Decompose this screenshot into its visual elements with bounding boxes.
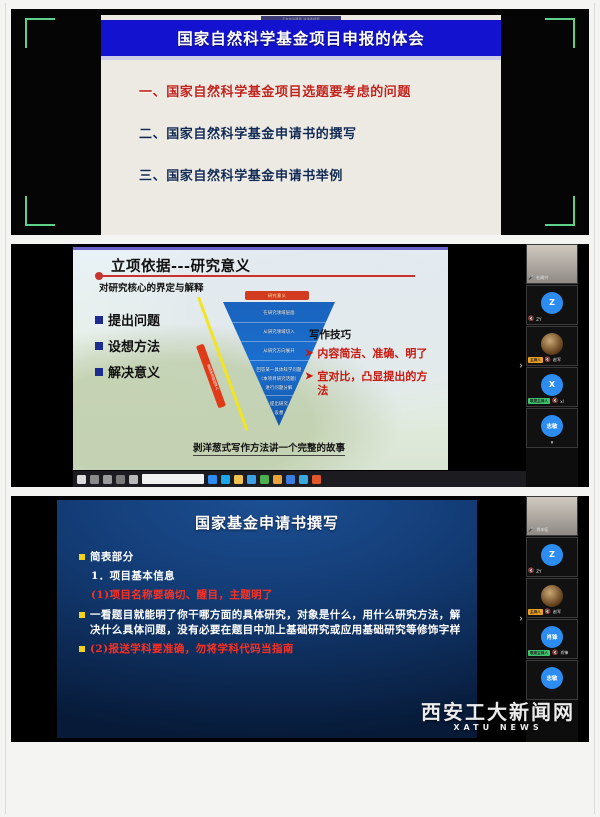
slide-bullet-1: 一、国家自然科学基金项目选题要考虑的问题 [139, 81, 485, 100]
slide-item-3: (1)项目名称要确切、醒目，主题明了 [91, 588, 465, 603]
slide-item-5: (2)报送学科要准确，勿将学科代码当指南 [79, 642, 465, 657]
focus-bracket-top-left-icon [25, 18, 55, 48]
left-point-2: 设想方法 [95, 336, 160, 355]
apps-icon[interactable] [129, 475, 138, 484]
app-icon-4[interactable] [247, 475, 256, 484]
mic-muted-icon: 🔇 [528, 316, 534, 322]
left-point-2-label: 设想方法 [108, 336, 160, 355]
writing-tips-list: ➤ 内容简洁、准确、明了 ➤ 宜对比，凸显提出的方法 [305, 347, 435, 397]
participant-name: 赵军 [553, 609, 561, 615]
participant-tile[interactable]: 志敏 [526, 660, 578, 700]
avatar [541, 585, 563, 607]
slide-item-3-label: (1)项目名称要确切、醒目，主题明了 [91, 588, 273, 603]
slide-item-2-label: 1．项目基本信息 [91, 569, 175, 584]
participant-name: 肖丰征 [536, 527, 548, 533]
mic-muted-icon: 🔇 [552, 398, 558, 404]
writing-tip-2-label: 宜对比，凸显提出的方法 [317, 370, 435, 398]
mic-icon: 🎤 [528, 275, 534, 281]
avatar: Z [541, 292, 563, 314]
slide-heading: 国家基金申请书撰写 [57, 512, 477, 533]
participant-name: 肖锋 [560, 650, 568, 656]
photo-panel-title-slide: 正在共享屏幕 演讲者视图 国家自然科学基金项目申报的体会 一、国家自然科学基金项… [11, 9, 589, 235]
presentation-slide-title: 正在共享屏幕 演讲者视图 国家自然科学基金项目申报的体会 一、国家自然科学基金项… [101, 15, 501, 235]
arrow-bullet-icon: ➤ [305, 347, 313, 361]
square-bullet-icon [95, 368, 103, 376]
participant-tile[interactable]: 🎤 杜周兴 [526, 244, 578, 284]
avatar: X [541, 374, 563, 396]
slide-left-point-list: 提出问题 设想方法 解决意义 [95, 310, 160, 381]
square-bullet-icon [79, 554, 85, 560]
mic-icon: 🎤 [528, 527, 534, 533]
participant-tile[interactable]: X 联席主持人 🔇 xl [526, 367, 578, 407]
writing-tip-1-label: 内容简洁、准确、明了 [317, 347, 427, 361]
participant-name-row: 联席主持人 🔇 xl [528, 397, 576, 405]
app-icon-1[interactable] [208, 475, 217, 484]
participant-tile[interactable]: Z 🔇 ZY [526, 537, 578, 577]
slide-subheading: 对研究核心的界定与解释 [99, 280, 204, 294]
participant-tile[interactable]: 主持人 🔇 赵军 [526, 326, 578, 366]
left-point-3: 解决意义 [95, 362, 160, 381]
cohost-badge: 联席主持人 [528, 650, 550, 656]
participant-name-row: 🔇 ZY [528, 315, 576, 323]
writing-tip-2: ➤ 宜对比，凸显提出的方法 [305, 370, 435, 398]
avatar [541, 333, 563, 355]
square-bullet-icon [79, 646, 85, 652]
focus-bracket-bottom-left-icon [25, 196, 55, 226]
roster-expander-icon[interactable]: › [519, 614, 523, 625]
avatar: 志敏 [541, 667, 563, 689]
participant-name: ZY [536, 317, 541, 322]
participant-tile[interactable]: 主持人 🔇 赵军 [526, 578, 578, 618]
heading-underline [99, 275, 415, 277]
participant-name: ZY [536, 569, 541, 574]
photo-panel-screen-share: 立项依据---研究意义 对研究核心的界定与解释 提出问题 设想方法 解决意义 [11, 244, 589, 487]
pyramid-cap-label: 研究意义 [245, 291, 309, 300]
participant-name-row: 联席主持人 🔇 肖锋 [528, 649, 576, 657]
app-icon-9[interactable] [312, 475, 321, 484]
slide-item-4: 一看题目就能明了你干哪方面的具体研究，对象是什么，用什么研究方法，解决什么具体问… [79, 608, 465, 638]
slide-title-bar: 国家自然科学基金项目申报的体会 [101, 20, 501, 56]
taskview-icon[interactable] [116, 475, 125, 484]
roster-expander-icon[interactable]: › [519, 360, 523, 371]
slide-item-1-label: 简表部分 [90, 550, 134, 565]
avatar: Z [541, 544, 563, 566]
square-bullet-icon [95, 316, 103, 324]
focus-bracket-bottom-right-icon [545, 196, 575, 226]
participant-name-row: 🔇 ZY [528, 567, 576, 575]
left-point-1-label: 提出问题 [108, 310, 160, 329]
app-icon-3[interactable] [234, 475, 243, 484]
participant-tile[interactable]: 🎤 肖丰征 [526, 496, 578, 536]
app-icon-7[interactable] [286, 475, 295, 484]
participant-tile[interactable]: Z 🔇 ZY [526, 285, 578, 325]
square-bullet-icon [79, 612, 85, 618]
mic-muted-icon: 🔇 [552, 650, 558, 656]
slide-content-list: 简表部分 1．项目基本信息 (1)项目名称要确切、醒目，主题明了 一看题目就能明… [79, 550, 465, 661]
app-icon-6[interactable] [273, 475, 282, 484]
cortana-icon[interactable] [90, 475, 99, 484]
slide-item-5-label: (2)报送学科要准确，勿将学科代码当指南 [90, 642, 294, 657]
focus-bracket-top-right-icon [545, 18, 575, 48]
slide-item-1: 简表部分 [79, 550, 465, 565]
app-icon-2[interactable] [221, 475, 230, 484]
slide-item-4-label: 一看题目就能明了你干哪方面的具体研究，对象是什么，用什么研究方法，解决什么具体问… [90, 608, 465, 638]
chevron-down-icon[interactable]: ▾ [551, 440, 554, 446]
app-icon-5[interactable] [260, 475, 269, 484]
participant-name-row: 主持人 🔇 赵军 [528, 356, 576, 364]
mic-muted-icon: 🔇 [545, 609, 551, 615]
participant-tile[interactable]: 肖锋 联席主持人 🔇 肖锋 [526, 619, 578, 659]
slide-heading: 立项依据---研究意义 [111, 255, 251, 276]
photo-panel-application-slide: 国家基金申请书撰写 简表部分 1．项目基本信息 (1)项目名称要确切、醒目，主题… [11, 496, 589, 742]
writing-tips-heading: 写作技巧 [309, 327, 351, 342]
pyramid-sep [230, 322, 329, 323]
writing-tip-1: ➤ 内容简洁、准确、明了 [305, 347, 435, 361]
participant-name-row: 🎤 杜周兴 [528, 274, 576, 282]
participant-name-row: 🎤 肖丰征 [528, 526, 576, 534]
windows-taskbar[interactable] [73, 471, 526, 487]
app-icon-8[interactable] [299, 475, 308, 484]
cohost-badge: 联席主持人 [528, 398, 550, 404]
avatar: 志敏 [541, 415, 563, 437]
participant-roster-panel-2: 🎤 杜周兴 Z 🔇 ZY 主持人 🔇 赵军 X [526, 244, 578, 487]
start-button-icon[interactable] [77, 475, 86, 484]
avatar: 肖锋 [541, 626, 563, 648]
left-point-1: 提出问题 [95, 310, 160, 329]
mic-muted-icon: 🔇 [545, 357, 551, 363]
presentation-slide-application: 国家基金申请书撰写 简表部分 1．项目基本信息 (1)项目名称要确切、醒目，主题… [57, 500, 477, 738]
participant-roster-panel-3: 🎤 肖丰征 Z 🔇 ZY 主持人 🔇 赵军 肖锋 [526, 496, 578, 742]
participant-name-row: 主持人 🔇 赵军 [528, 608, 576, 616]
participant-name: xl [560, 399, 563, 404]
article-photo-stack: 正在共享屏幕 演讲者视图 国家自然科学基金项目申报的体会 一、国家自然科学基金项… [0, 0, 600, 817]
settings-icon[interactable] [103, 475, 112, 484]
arrow-bullet-icon: ➤ [305, 370, 313, 398]
shared-screen-slide: 立项依据---研究意义 对研究核心的界定与解释 提出问题 设想方法 解决意义 [73, 247, 448, 470]
taskbar-search-input[interactable] [142, 474, 204, 484]
left-point-3-label: 解决意义 [108, 362, 160, 381]
square-bullet-icon [95, 342, 103, 350]
slide-footer-note: 剥洋葱式写作方法讲一个完整的故事 [193, 440, 345, 456]
participant-name: 杜周兴 [536, 275, 548, 281]
pyramid-row-1: 在研究领域层面 [223, 310, 335, 316]
pyramid-sep [252, 395, 306, 396]
mic-muted-icon: 🔇 [528, 568, 534, 574]
slide-bullet-3: 三、国家自然科学基金申请书举例 [139, 165, 485, 184]
participant-name: 赵军 [553, 357, 561, 363]
slide-item-2: 1．项目基本信息 [91, 569, 465, 584]
slide-title: 国家自然科学基金项目申报的体会 [177, 27, 425, 49]
participant-tile[interactable]: 志敏 ▾ [526, 408, 578, 448]
host-badge: 主持人 [528, 357, 543, 363]
slide-bullet-2: 二、国家自然科学基金申请书的撰写 [139, 123, 485, 142]
host-badge: 主持人 [528, 609, 543, 615]
slide-bullet-list: 一、国家自然科学基金项目选题要考虑的问题 二、国家自然科学基金申请书的撰写 三、… [139, 81, 485, 184]
